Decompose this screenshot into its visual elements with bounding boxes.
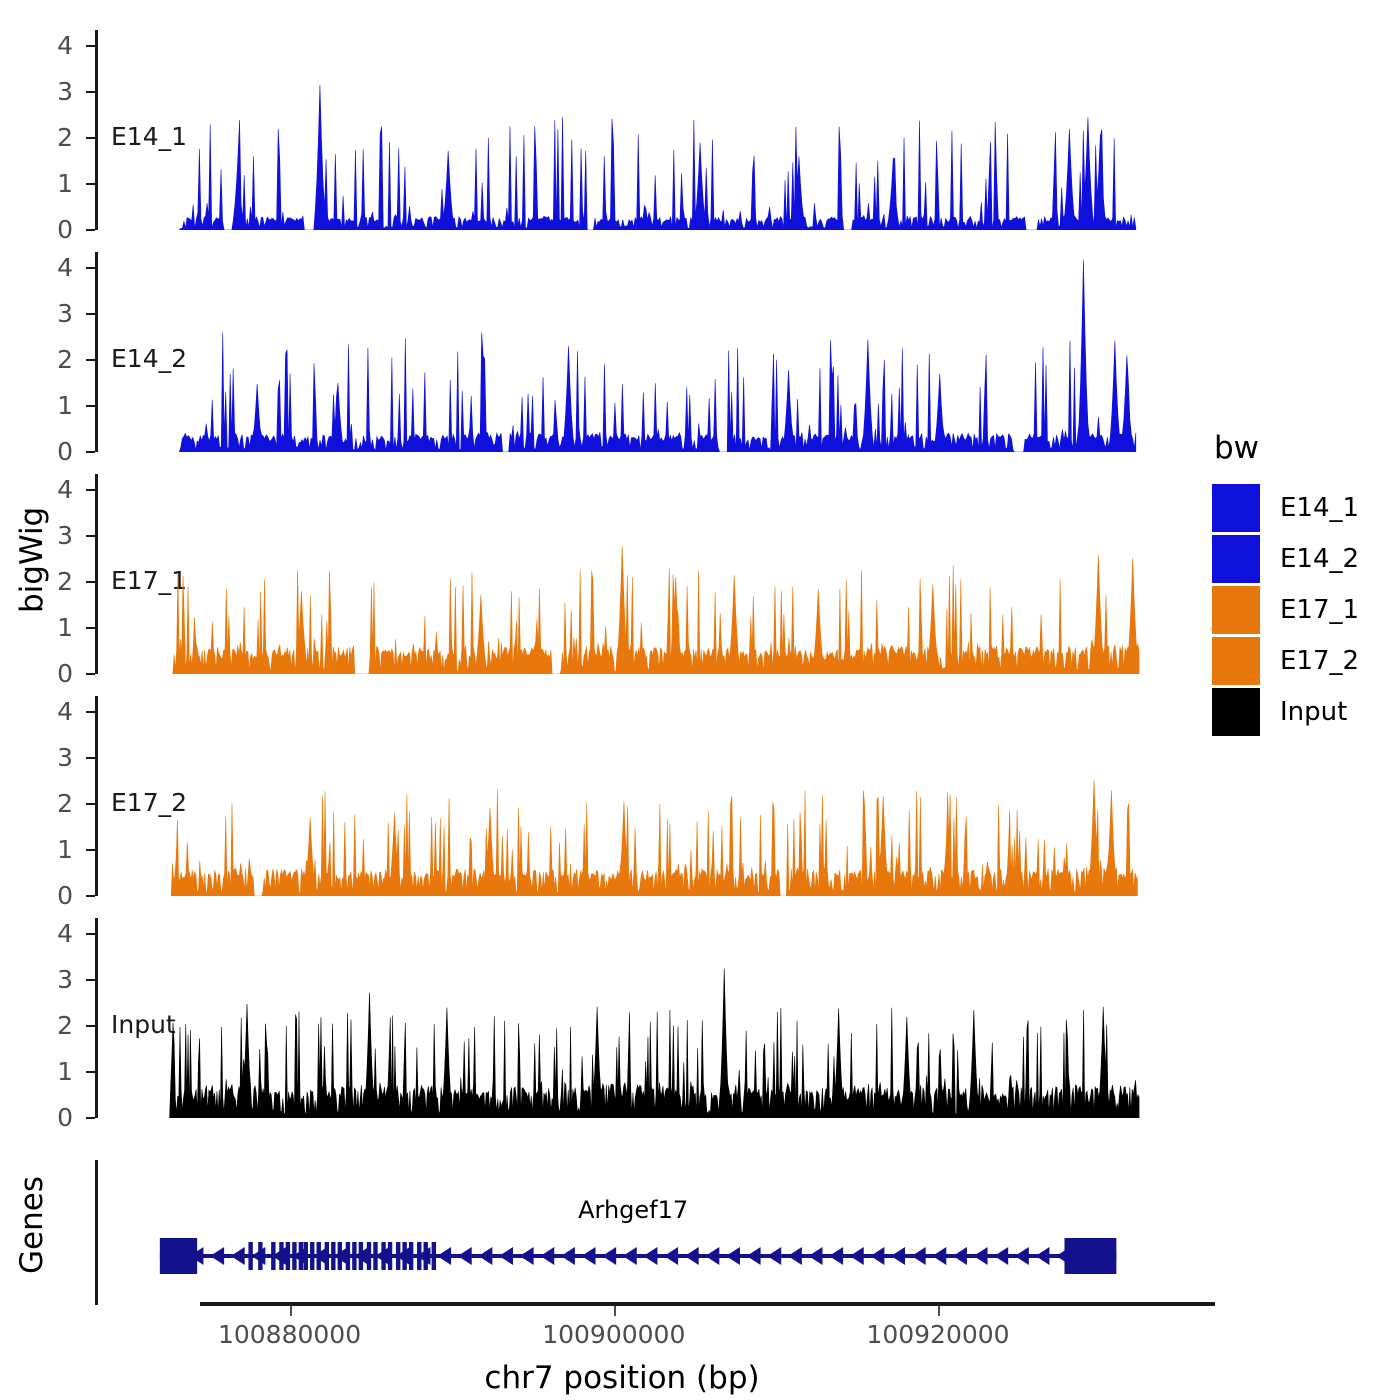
legend-label: E14_1 <box>1280 493 1359 523</box>
x-axis-line <box>200 1302 1215 1306</box>
signal-area-e17_2 <box>0 696 1180 896</box>
legend-item-e14_1[interactable]: E14_1 <box>1212 482 1359 533</box>
gene-model-svg[interactable] <box>0 1160 1180 1305</box>
signal-area-e14_2 <box>0 252 1180 452</box>
track-panel-e14_2: 01234E14_2 <box>0 252 1180 452</box>
track-panel-e14_1: 01234E14_1 <box>0 30 1180 230</box>
legend-swatch <box>1212 535 1260 583</box>
legend-swatch <box>1212 586 1260 634</box>
legend-label: E14_2 <box>1280 544 1359 574</box>
track-panel-e17_2: 01234E17_2 <box>0 696 1180 896</box>
x-tick <box>938 1306 940 1316</box>
legend-item-e17_2[interactable]: E17_2 <box>1212 635 1359 686</box>
signal-area-input <box>0 918 1180 1118</box>
legend-item-e17_1[interactable]: E17_1 <box>1212 584 1359 635</box>
x-axis-title: chr7 position (bp) <box>484 1360 759 1396</box>
legend-label: E17_2 <box>1280 646 1359 676</box>
legend: bw E14_1E14_2E17_1E17_2Input <box>1212 430 1359 737</box>
x-tick <box>290 1306 292 1316</box>
x-tick <box>614 1306 616 1316</box>
signal-area-e17_1 <box>0 474 1180 674</box>
legend-label: Input <box>1280 697 1347 727</box>
x-tick-label: 100920000 <box>866 1320 1009 1349</box>
legend-title: bw <box>1214 430 1359 466</box>
legend-items: E14_1E14_2E17_1E17_2Input <box>1212 482 1359 737</box>
legend-label: E17_1 <box>1280 595 1359 625</box>
legend-swatch <box>1212 637 1260 685</box>
track-panel-input: 01234Input <box>0 918 1180 1118</box>
x-tick-label: 100900000 <box>542 1320 685 1349</box>
signal-area-e14_1 <box>0 30 1180 230</box>
legend-item-input[interactable]: Input <box>1212 686 1359 737</box>
x-tick-label: 100880000 <box>218 1320 361 1349</box>
track-panel-e17_1: 01234E17_1 <box>0 474 1180 674</box>
gene-track-panel: Arhgef17 <box>0 1160 1180 1305</box>
legend-item-e14_2[interactable]: E14_2 <box>1212 533 1359 584</box>
legend-swatch <box>1212 688 1260 736</box>
legend-swatch <box>1212 484 1260 532</box>
